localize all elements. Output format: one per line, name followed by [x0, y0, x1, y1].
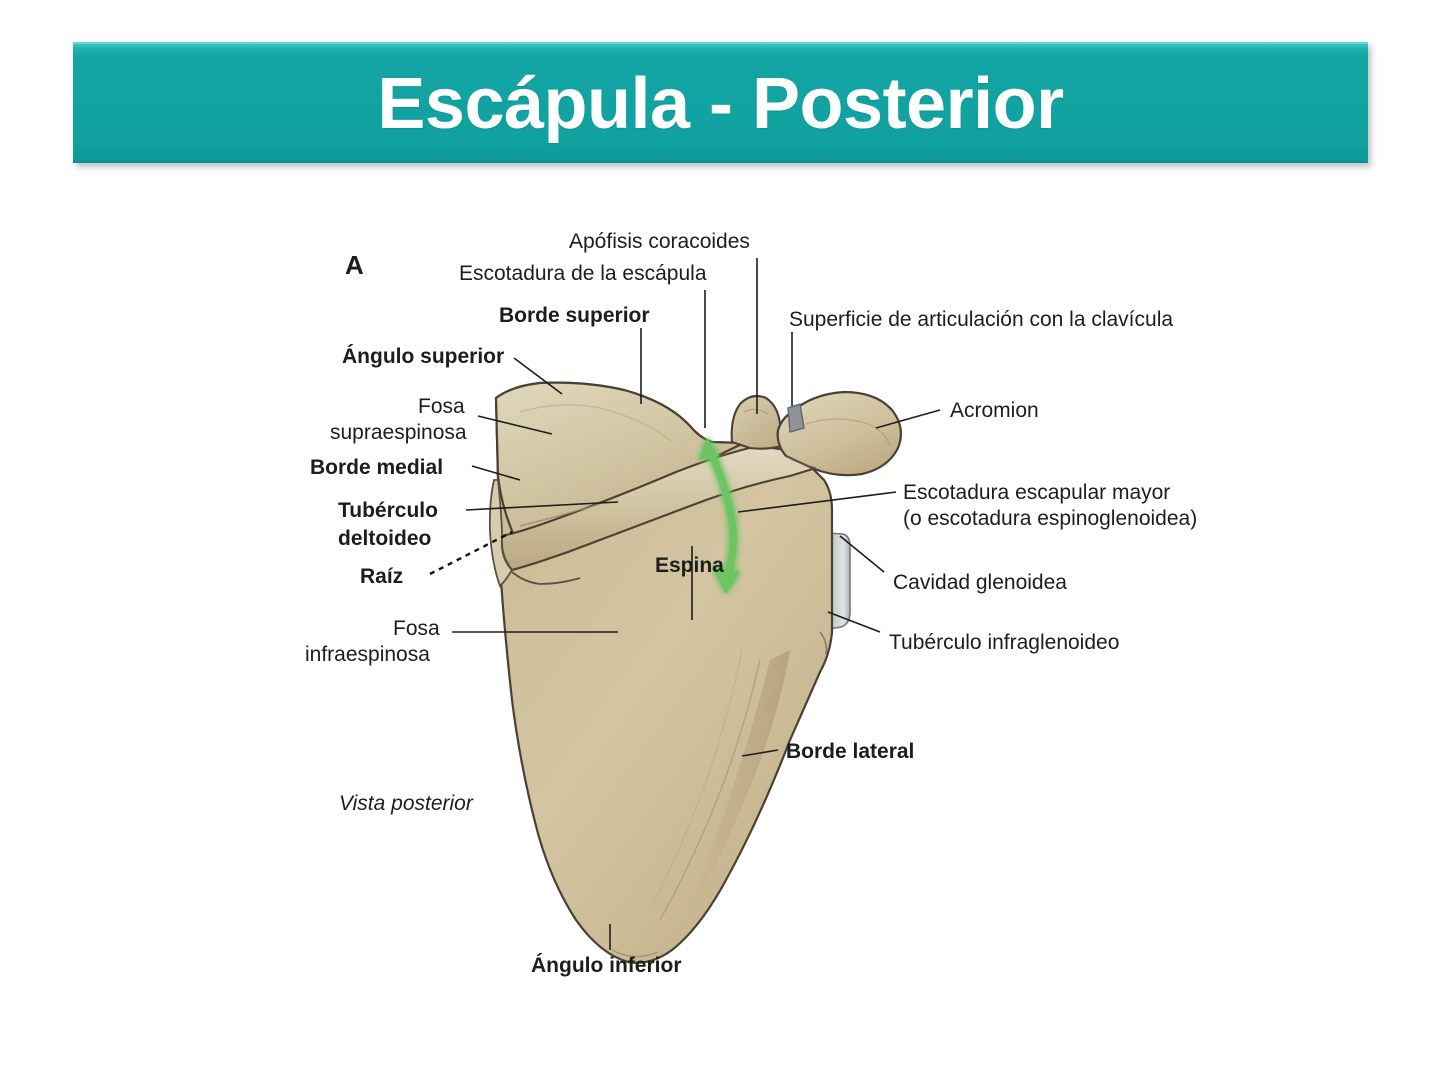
- title-banner: Escápula - Posterior: [73, 42, 1368, 163]
- label-view-caption: Vista posterior: [339, 792, 474, 815]
- label-glenoid-cavity: Cavidad glenoidea: [893, 571, 1067, 594]
- label-acromion: Acromion: [950, 399, 1039, 422]
- label-spine: Espina: [655, 554, 724, 577]
- scapula-figure: A Apófisis coracoides Escotadura de la e…: [0, 180, 1440, 1000]
- label-medial-border: Borde medial: [310, 456, 443, 479]
- label-scapular-notch: Escotadura de la escápula: [459, 262, 707, 285]
- label-greater-notch-2: (o escotadura espinoglenoidea): [903, 507, 1197, 530]
- label-greater-notch-1: Escotadura escapular mayor: [903, 481, 1170, 504]
- label-inferior-angle: Ángulo inferior: [531, 954, 682, 977]
- label-superior-border: Borde superior: [499, 304, 650, 327]
- label-lateral-border: Borde lateral: [786, 740, 914, 763]
- scapula-diagram: A Apófisis coracoides Escotadura de la e…: [0, 180, 1440, 1000]
- page-title: Escápula - Posterior: [377, 68, 1063, 140]
- label-supraspinous-fossa-2: supraespinosa: [330, 421, 467, 444]
- label-infraspinous-fossa-1: Fosa: [393, 617, 440, 640]
- label-root: Raíz: [360, 565, 403, 588]
- label-clavicular-facet: Superficie de articulación con la clavíc…: [789, 308, 1173, 331]
- panel-letter: A: [345, 250, 364, 280]
- label-superior-angle: Ángulo superior: [342, 345, 504, 368]
- label-deltoid-tubercle-1: Tubérculo: [338, 499, 438, 522]
- label-infraglenoid-tubercle: Tubérculo infraglenoideo: [889, 631, 1119, 654]
- label-supraspinous-fossa-1: Fosa: [418, 395, 465, 418]
- scapula-bone: [490, 383, 901, 963]
- label-coracoid: Apófisis coracoides: [569, 230, 750, 253]
- label-infraspinous-fossa-2: infraespinosa: [305, 643, 430, 666]
- label-deltoid-tubercle-2: deltoideo: [338, 527, 431, 550]
